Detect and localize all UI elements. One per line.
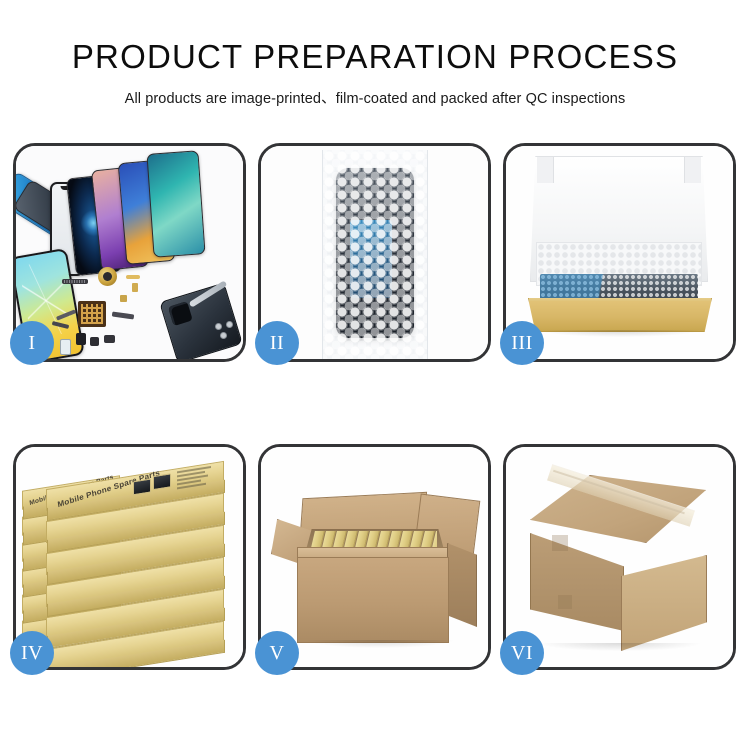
carton-side-right bbox=[447, 543, 477, 627]
step-image-4: Mobile Phone Spare Parts Mobil bbox=[16, 447, 243, 667]
bubble-wrap-illustration bbox=[261, 146, 488, 359]
sealed-carton-shadow bbox=[540, 643, 700, 651]
chip-grid-icon bbox=[78, 301, 106, 327]
step-panel-3: III bbox=[503, 143, 736, 362]
connector-3-icon bbox=[104, 335, 115, 343]
bubble-wrap-texture-icon bbox=[323, 150, 427, 359]
step-image-6 bbox=[506, 447, 733, 667]
step-image-3 bbox=[506, 146, 733, 359]
step-badge-2: II bbox=[255, 321, 299, 365]
screws-group bbox=[213, 321, 239, 343]
step-panel-5: V bbox=[258, 444, 491, 670]
sealed-carton-right-face bbox=[621, 555, 707, 651]
flex-cable-icon bbox=[62, 279, 88, 284]
carton-mark-1 bbox=[552, 535, 568, 551]
open-carton-illustration bbox=[261, 447, 488, 667]
carton-front-face bbox=[297, 557, 449, 643]
step-panel-6: VI bbox=[503, 444, 736, 670]
step-badge-4: IV bbox=[10, 631, 54, 675]
small-part-3-icon bbox=[112, 312, 134, 320]
connector-2-icon bbox=[90, 337, 99, 346]
connector-1-icon bbox=[76, 333, 86, 345]
carton-shadow bbox=[307, 640, 453, 648]
product-preparation-infographic: PRODUCT PREPARATION PROCESS All products… bbox=[0, 0, 750, 750]
page-title: PRODUCT PREPARATION PROCESS bbox=[0, 38, 750, 76]
box-shadow bbox=[540, 330, 700, 337]
step-image-1 bbox=[16, 146, 243, 359]
small-part-6-icon bbox=[126, 275, 140, 279]
step-panel-1: I bbox=[13, 143, 246, 362]
step-image-2 bbox=[261, 146, 488, 359]
step-panel-2: II bbox=[258, 143, 491, 362]
steps-grid: I II bbox=[13, 143, 737, 670]
phone-screen-teal-icon bbox=[146, 150, 205, 257]
sealed-carton-illustration bbox=[506, 447, 733, 667]
step-badge-1: I bbox=[10, 321, 54, 365]
small-part-4-icon bbox=[120, 295, 127, 302]
vibration-motor-icon bbox=[98, 267, 117, 286]
battery-icon bbox=[60, 339, 71, 355]
phone-fan bbox=[16, 146, 243, 265]
box-base-kraft bbox=[528, 298, 712, 332]
open-box-illustration bbox=[506, 146, 733, 359]
header: PRODUCT PREPARATION PROCESS All products… bbox=[0, 0, 750, 108]
phone-parts-illustration bbox=[16, 146, 243, 359]
step-badge-3: III bbox=[500, 321, 544, 365]
carton-mark-2 bbox=[558, 595, 572, 609]
step-panel-4: Mobile Phone Spare Parts Mobil bbox=[13, 444, 246, 670]
sealed-carton-left-face bbox=[530, 533, 624, 631]
page-subtitle: All products are image-printed、film-coat… bbox=[0, 87, 750, 108]
step-badge-5: V bbox=[255, 631, 299, 675]
step-badge-6: VI bbox=[500, 631, 544, 675]
small-part-1-icon bbox=[56, 309, 76, 320]
stacked-boxes-illustration: Mobile Phone Spare Parts Mobil bbox=[16, 447, 243, 667]
step-image-5 bbox=[261, 447, 488, 667]
small-part-5-icon bbox=[132, 283, 138, 292]
small-part-2-icon bbox=[52, 321, 69, 329]
